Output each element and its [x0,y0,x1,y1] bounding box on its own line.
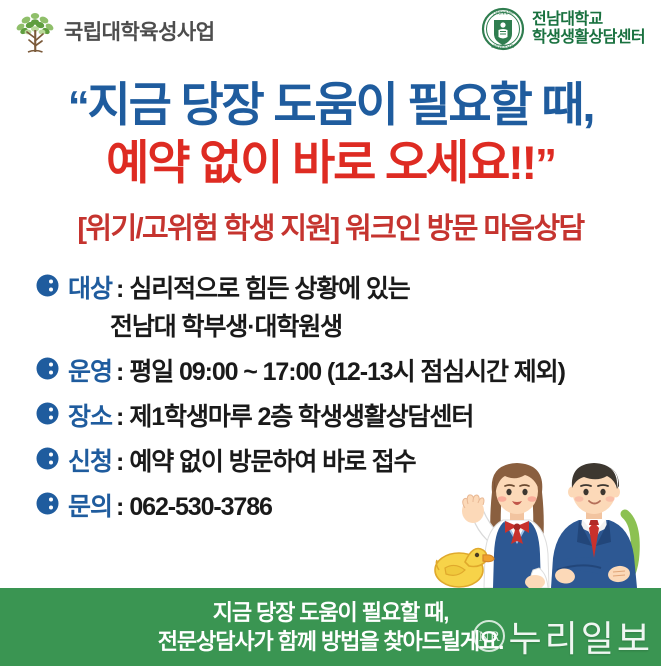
info-label: 대상 [68,269,112,305]
info-value: 제1학생마루 2층 학생생활상담센터 [129,397,473,433]
info-row-application: 신청 : 예약 없이 방문하여 바로 접수 [36,442,661,478]
subtitle-banner: [위기/고위험 학생 지원] 워크인 방문 마음상담 [0,205,661,247]
phone-number: 062-530-3786 [129,493,272,522]
logo-chonnam-counseling-center: CHONNAM UNIVERSITY 전남대학교 학생생활상담센터 [481,6,645,52]
headline-line-2-text: 예약 없이 바로 오세요!! [106,136,535,189]
info-row-hours: 운영 : 평일 09:00 ~ 17:00 (12-13시 점심시간 제외) [36,352,661,388]
info-separator: : [116,358,124,387]
logo-left-label: 국립대학육성사업 [64,16,215,46]
logo-right-label: 전남대학교 학생생활상담센터 [532,11,645,47]
blue-colon-bullet-icon [36,492,59,515]
watermark-label: 누리일보 [509,610,653,662]
headline-block: “지금 당장 도움이 필요할 때, 예약 없이 바로 오세요!!” [0,76,661,191]
info-label: 문의 [68,487,112,523]
info-list: 대상 : 심리적으로 힘든 상황에 있는 전남대 학부생·대학원생 운영 : 평… [0,269,661,523]
info-row-contact: 문의 : 062-530-3786 [36,487,661,523]
headline-line-1: “지금 당장 도움이 필요할 때, [10,76,651,134]
logo-national-university-program: 국립대학육성사업 [14,8,215,54]
info-value-second-line: 전남대 학부생·대학원생 [110,307,410,343]
poster-header: 국립대학육성사업 CHONNAM UNIVERSITY 전남대학교 학생생활상담… [0,0,661,62]
blue-colon-bullet-icon [36,447,59,470]
university-crest-icon: CHONNAM UNIVERSITY [481,6,525,52]
info-separator: : [116,493,124,522]
info-main: 문의 : 062-530-3786 [68,487,272,523]
info-value: 평일 09:00 ~ 17:00 (12-13시 점심시간 제외) [129,352,564,388]
info-main: 장소 : 제1학생마루 2층 학생생활상담센터 [68,397,473,433]
info-value: 심리적으로 힘든 상황에 있는 [129,269,409,305]
info-main: 운영 : 평일 09:00 ~ 17:00 (12-13시 점심시간 제외) [68,352,565,388]
info-body: 문의 : 062-530-3786 [68,487,272,523]
info-label: 운영 [68,352,112,388]
info-separator: : [116,275,124,304]
info-row-target: 대상 : 심리적으로 힘든 상황에 있는 전남대 학부생·대학원생 [36,269,661,343]
headline-line-2: 예약 없이 바로 오세요!!” [10,134,651,192]
info-row-location: 장소 : 제1학생마루 2층 학생생활상담센터 [36,397,661,433]
info-label: 장소 [68,397,112,433]
yellow-duck-icon [435,549,494,588]
tree-icon [14,8,56,54]
poster-canvas: 국립대학육성사업 CHONNAM UNIVERSITY 전남대학교 학생생활상담… [0,0,661,666]
svg-text:NR: NR [478,630,500,645]
info-main: 대상 : 심리적으로 힘든 상황에 있는 [68,269,410,305]
quote-open-mark: “ [68,82,88,131]
footer-line-1: 지금 당장 도움이 필요할 때, [213,598,449,627]
svg-text:CHONNAM: CHONNAM [492,11,514,16]
watermark-nuri-ilbo: NR 누리일보 [472,610,653,662]
blue-colon-bullet-icon [36,357,59,380]
info-value: 예약 없이 방문하여 바로 접수 [129,442,415,478]
info-main: 신청 : 예약 없이 방문하여 바로 접수 [68,442,416,478]
blue-colon-bullet-icon [36,274,59,297]
info-separator: : [116,448,124,477]
info-body: 신청 : 예약 없이 방문하여 바로 접수 [68,442,416,478]
info-separator: : [116,403,124,432]
nr-badge-icon: NR [472,619,506,653]
blue-colon-bullet-icon [36,402,59,425]
logo-right-line1: 전남대학교 [532,11,645,29]
logo-right-line2: 학생생활상담센터 [532,29,645,47]
headline-line-1-text: 지금 당장 도움이 필요할 때, [88,78,594,131]
info-body: 운영 : 평일 09:00 ~ 17:00 (12-13시 점심시간 제외) [68,352,565,388]
footer-banner: 지금 당장 도움이 필요할 때, 전문상담사가 함께 방법을 찾아드릴게요. N… [0,588,661,666]
info-body: 장소 : 제1학생마루 2층 학생생활상담센터 [68,397,473,433]
info-label: 신청 [68,442,112,478]
footer-line-2: 전문상담사가 함께 방법을 찾아드릴게요. [158,627,503,656]
quote-close-mark: ” [535,140,555,189]
info-body: 대상 : 심리적으로 힘든 상황에 있는 전남대 학부생·대학원생 [68,269,410,343]
